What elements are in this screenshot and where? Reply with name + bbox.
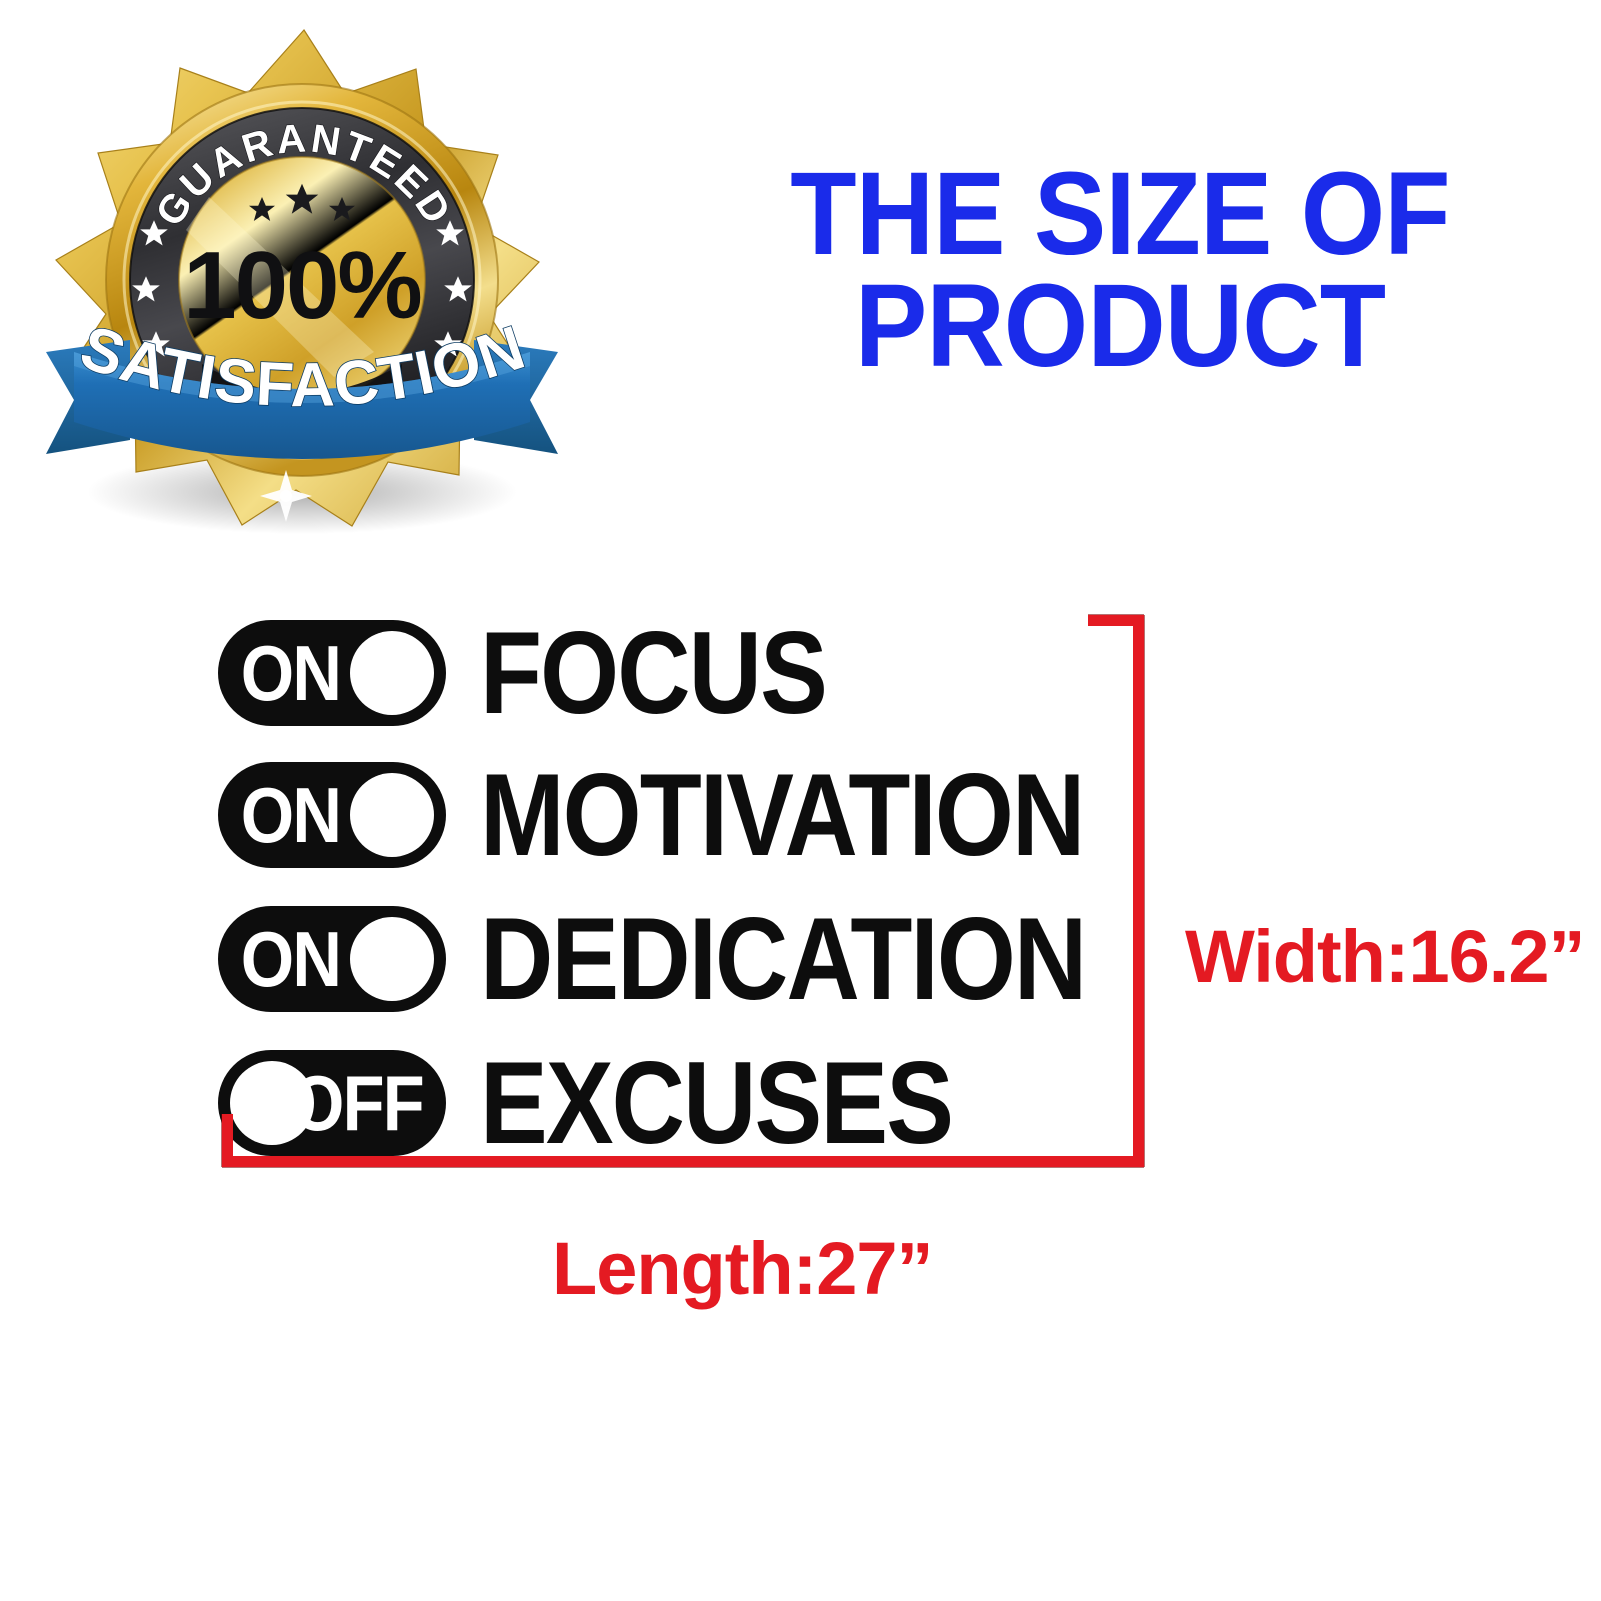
decal-word-excuses: EXCUSES — [480, 1045, 952, 1162]
decal-row: ON DEDICATION — [218, 898, 1124, 1020]
decal-word-motivation: MOTIVATION — [480, 757, 1083, 874]
toggle-knob — [350, 773, 434, 857]
toggle-state-label: ON — [241, 920, 340, 998]
badge-graphic: GUARANTEED 100% SATISFACT — [34, 22, 574, 542]
toggle-knob — [350, 917, 434, 1001]
page-title-line-2: PRODUCT — [697, 270, 1543, 382]
toggle-switch-on-dedication[interactable]: ON — [218, 906, 446, 1012]
decal-row: ON FOCUS — [218, 612, 848, 734]
decal-artwork: ON FOCUS ON MOTIVATION ON DEDICATION OFF… — [218, 612, 1158, 1172]
measure-bracket-vertical — [1133, 615, 1144, 1167]
decal-word-focus: FOCUS — [480, 615, 826, 732]
measure-bracket-left-tick — [222, 1114, 233, 1167]
measure-bracket-horizontal — [222, 1156, 1144, 1167]
page-title: THE SIZE OF PRODUCT — [697, 158, 1543, 382]
badge-percent-text: 100% — [183, 232, 421, 339]
decal-row: ON MOTIVATION — [218, 754, 1122, 876]
toggle-state-label: ON — [241, 776, 340, 854]
width-dimension-label: Width:16.2” — [1185, 920, 1584, 994]
toggle-switch-off-excuses[interactable]: OFF — [218, 1050, 446, 1156]
satisfaction-guarantee-badge: GUARANTEED 100% SATISFACT — [34, 22, 574, 542]
toggle-state-label: OFF — [291, 1064, 423, 1142]
decal-row: OFF EXCUSES — [218, 1042, 982, 1164]
toggle-knob — [350, 631, 434, 715]
toggle-switch-on-motivation[interactable]: ON — [218, 762, 446, 868]
length-dimension-label: Length:27” — [552, 1232, 933, 1306]
page-title-line-1: THE SIZE OF — [697, 158, 1543, 270]
toggle-switch-on-focus[interactable]: ON — [218, 620, 446, 726]
toggle-state-label: ON — [241, 634, 340, 712]
decal-word-dedication: DEDICATION — [480, 901, 1085, 1018]
